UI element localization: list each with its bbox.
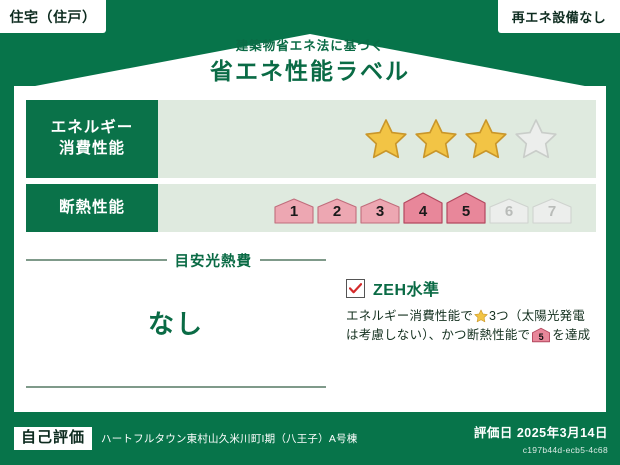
insulation-grade-7-num: 7 — [532, 204, 572, 219]
row-energy-label: エネルギー 消費性能 — [26, 100, 158, 178]
row-energy-label-line2: 消費性能 — [59, 140, 125, 157]
insulation-grade-3-num: 3 — [360, 204, 400, 219]
insulation-grade-6: 6 — [489, 198, 529, 224]
insulation-grade-5: 5 — [446, 192, 486, 224]
house-icon-inline: 5 — [532, 327, 550, 343]
check-icon — [349, 283, 362, 294]
energy-performance-label: 住宅（住戸） 再エネ設備なし 建築物省エネ法に基づく 省エネ性能ラベル エネルギ… — [0, 0, 620, 465]
evaluation-date: 評価日 2025年3月14日 — [474, 426, 608, 440]
tag-dwelling-type: 住宅（住戸） — [0, 0, 106, 33]
star-icon-inline — [474, 309, 488, 323]
page-title: 省エネ性能ラベル — [0, 60, 620, 83]
zeh-description: エネルギー消費性能で3つ（太陽光発電は考慮しない）、かつ断熱性能で5を達成 — [346, 307, 596, 346]
insulation-grade-1-num: 1 — [274, 204, 314, 219]
tag-renewable-equipment: 再エネ設備なし — [498, 0, 620, 33]
insulation-grade-5-num: 5 — [446, 204, 486, 219]
zeh-title: ZEH水準 — [373, 276, 440, 300]
zeh-desc-badge-num: 5 — [532, 333, 550, 342]
lower-section: 目安光熱費 なし ZEH水準 エネルギー消費性能で3つ（太陽光発電は考慮しない）… — [26, 252, 596, 402]
property-name: ハートフルタウン東村山久米川町I期（八王子）A号棟 — [101, 431, 357, 446]
checkbox-zeh[interactable] — [346, 279, 365, 298]
zeh-desc-part3: は考慮しない）、かつ断熱性能で — [346, 328, 530, 342]
zeh-block: ZEH水準 エネルギー消費性能で3つ（太陽光発電は考慮しない）、かつ断熱性能で5… — [326, 252, 596, 402]
row-energy-label-line1: エネルギー — [51, 119, 134, 136]
performance-rows: エネルギー 消費性能 — [26, 100, 596, 238]
cost-bottom-rule — [26, 386, 326, 388]
star-rating — [364, 117, 558, 161]
row-insulation-value: 1 2 3 — [158, 184, 596, 232]
cost-heading: 目安光熱費 — [175, 250, 253, 271]
evaluation-date-label: 評価日 — [474, 426, 513, 440]
evaluation-date-value: 2025年3月14日 — [517, 426, 608, 440]
cost-value: なし — [26, 304, 326, 341]
header-title-block: 建築物省エネ法に基づく 省エネ性能ラベル — [0, 40, 620, 83]
insulation-grade-1: 1 — [274, 198, 314, 224]
estimated-utility-cost-block: 目安光熱費 なし — [26, 252, 326, 402]
insulation-grade-2-num: 2 — [317, 204, 357, 219]
insulation-grade-6-num: 6 — [489, 204, 529, 219]
row-insulation-label: 断熱性能 — [26, 184, 158, 232]
insulation-grade-7: 7 — [532, 198, 572, 224]
header-subtitle: 建築物省エネ法に基づく — [0, 40, 620, 53]
cost-rule-left — [26, 259, 167, 261]
insulation-grade-2: 2 — [317, 198, 357, 224]
star-icon-empty-4 — [514, 117, 558, 161]
zeh-desc-part4: を達成 — [552, 328, 590, 342]
star-icon-filled-2 — [414, 117, 458, 161]
row-energy-value — [158, 100, 596, 178]
evaluation-code: c197b44d-ecb5-4c68 — [474, 445, 608, 455]
insulation-grade-3: 3 — [360, 198, 400, 224]
zeh-desc-part1: エネルギー消費性能で — [346, 309, 473, 323]
insulation-grade-4-num: 4 — [403, 204, 443, 219]
row-insulation: 断熱性能 1 2 — [26, 184, 596, 232]
zeh-title-row: ZEH水準 — [346, 276, 596, 300]
insulation-grade-4: 4 — [403, 192, 443, 224]
cost-heading-row: 目安光熱費 — [26, 252, 326, 268]
footer: 自己評価 ハートフルタウン東村山久米川町I期（八王子）A号棟 評価日 2025年… — [0, 412, 620, 465]
cost-rule-right — [260, 259, 326, 261]
footer-right: 評価日 2025年3月14日 c197b44d-ecb5-4c68 — [474, 422, 608, 455]
row-energy-consumption: エネルギー 消費性能 — [26, 100, 596, 178]
star-icon-filled-3 — [464, 117, 508, 161]
self-evaluation-badge: 自己評価 — [14, 427, 92, 450]
star-icon-filled-1 — [364, 117, 408, 161]
zeh-desc-part2: 3つ（太陽光発電 — [489, 309, 585, 323]
insulation-grade-scale: 1 2 3 — [274, 192, 572, 224]
